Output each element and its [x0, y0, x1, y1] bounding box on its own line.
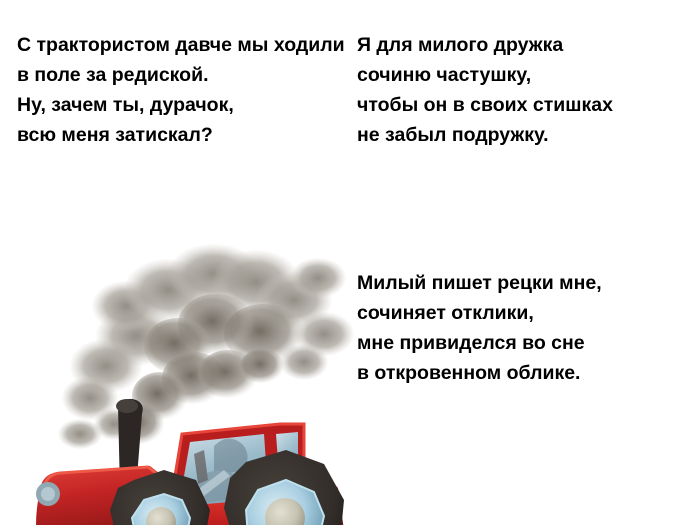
poster-canvas: С трактористом давче мы ходили в поле за… [0, 0, 700, 525]
verse-text-right-top: Я для милого дружка сочиню частушку, что… [357, 30, 687, 150]
verse-text-right-bottom: Милый пишет рецки мне, сочиняет отклики,… [357, 268, 687, 388]
verse-text-left: С трактористом давче мы ходили в поле за… [17, 30, 347, 150]
sparkle-highlight [254, 386, 282, 414]
tractor-illustration [18, 238, 358, 525]
smoke-cloud [58, 244, 354, 449]
